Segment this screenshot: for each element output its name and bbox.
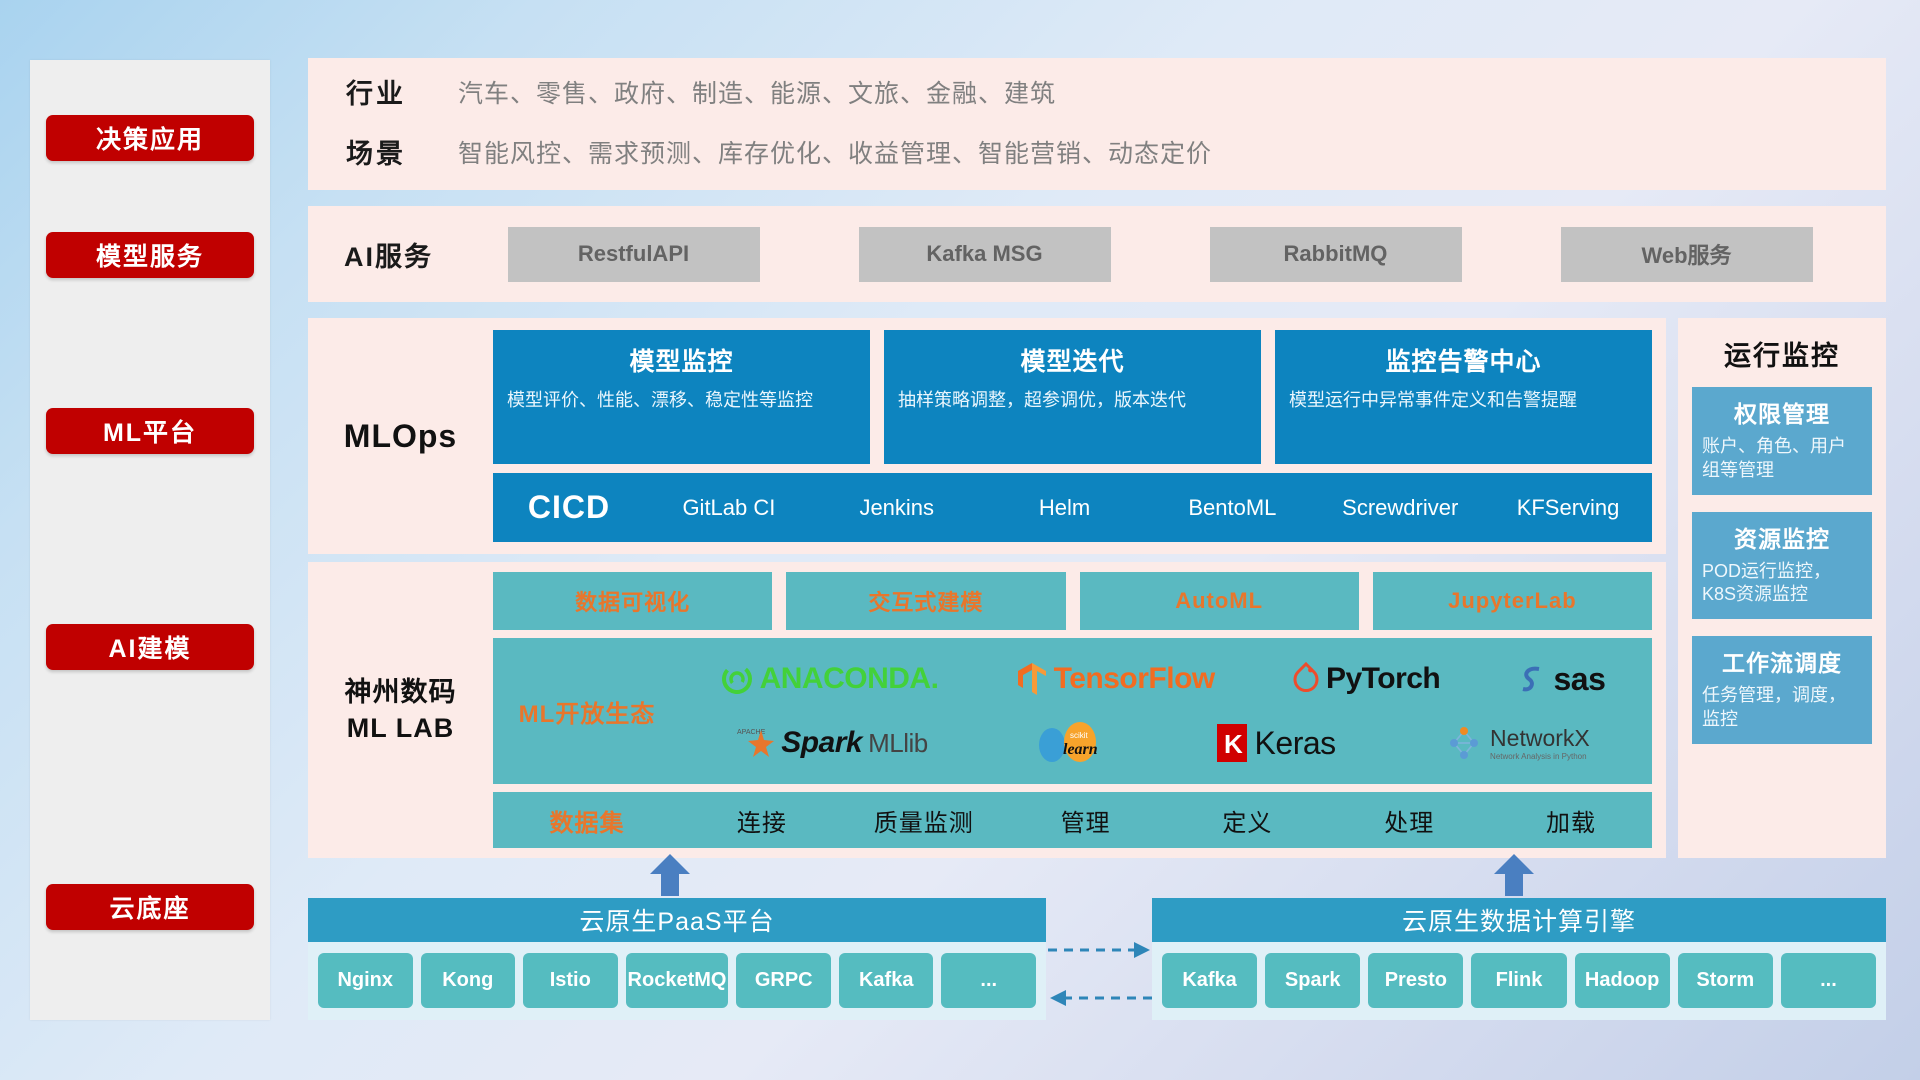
runtime-monitoring-panel: 运行监控 权限管理 账户、角色、用户组等管理 资源监控 POD运行监控，K8S资… [1678, 318, 1886, 858]
card-desc: POD运行监控，K8S资源监控 [1702, 560, 1862, 608]
spark-text: Spark [781, 726, 862, 760]
runtime-monitoring-title: 运行监控 [1692, 334, 1872, 373]
ml-lab-label-line1: 神州数码 [345, 674, 457, 710]
industry-labels: 行业 场景 [308, 64, 458, 184]
mlops-card-model-monitor[interactable]: 模型监控 模型评价、性能、漂移、稳定性等监控 [493, 330, 870, 464]
ai-service-panel: AI服务 RestfulAPI Kafka MSG RabbitMQ Web服务 [308, 206, 1886, 302]
cicd-item-screwdriver[interactable]: Screwdriver [1316, 496, 1484, 519]
card-title: 监控告警中心 [1289, 342, 1638, 378]
compute-engine-items: Kafka Spark Presto Flink Hadoop Storm ..… [1152, 942, 1886, 1019]
engine-chip-kafka[interactable]: Kafka [1162, 953, 1257, 1008]
dataset-item-connect[interactable]: 连接 [681, 803, 843, 838]
scenario-label: 场景 [346, 124, 458, 184]
engine-chip-hadoop[interactable]: Hadoop [1575, 953, 1670, 1008]
anaconda-text: ANACONDA. [760, 662, 939, 696]
ecosystem-logo-row-1: ANACONDA. TensorFlow PyTorch sas [681, 648, 1644, 710]
engine-chip-presto[interactable]: Presto [1368, 953, 1463, 1008]
ml-lab-tools: 数据可视化 交互式建模 AutoML JupyterLab [493, 572, 1652, 630]
svg-text:learn: learn [1063, 741, 1098, 758]
pytorch-logo: PyTorch [1292, 662, 1440, 696]
industry-value: 汽车、零售、政府、制造、能源、文旅、金融、建筑 [458, 64, 1886, 124]
spark-icon: APACHE [735, 724, 775, 762]
ai-service-chip-kafka-msg[interactable]: Kafka MSG [859, 227, 1111, 282]
card-title: 权限管理 [1702, 395, 1862, 429]
cicd-item-jenkins[interactable]: Jenkins [813, 496, 981, 519]
paas-items: Nginx Kong Istio RocketMQ GRPC Kafka ... [308, 942, 1046, 1019]
card-desc: 账户、角色、用户组等管理 [1702, 435, 1862, 483]
cicd-item-helm[interactable]: Helm [981, 496, 1149, 519]
mllib-text: MLlib [868, 728, 928, 759]
dataset-items: 连接 质量监测 管理 定义 处理 加载 [681, 803, 1652, 838]
dataset-item-manage[interactable]: 管理 [1005, 803, 1167, 838]
networkx-subtext: Network Analysis in Python [1490, 752, 1590, 761]
card-title: 模型监控 [507, 342, 856, 378]
svg-text:K: K [1224, 729, 1243, 759]
dataset-title: 数据集 [493, 803, 681, 838]
pytorch-icon [1292, 662, 1320, 696]
svg-text:scikit: scikit [1070, 731, 1089, 740]
cicd-item-gitlab-ci[interactable]: GitLab CI [645, 496, 813, 519]
paas-chip-istio[interactable]: Istio [523, 953, 618, 1008]
scikit-learn-icon: scikitlearn [1036, 721, 1106, 765]
rail-item-model-service[interactable]: 模型服务 [46, 232, 254, 278]
compute-engine-title: 云原生数据计算引擎 [1152, 898, 1886, 942]
keras-icon: K [1215, 722, 1249, 764]
arrow-up-icon [648, 852, 692, 896]
card-desc: 抽样策略调整，超参调优，版本迭代 [898, 388, 1247, 413]
card-desc: 模型运行中异常事件定义和告警提醒 [1289, 388, 1638, 413]
ai-service-items: RestfulAPI Kafka MSG RabbitMQ Web服务 [458, 227, 1886, 282]
mlops-panel: MLOps 模型监控 模型评价、性能、漂移、稳定性等监控 模型迭代 抽样策略调整… [308, 318, 1666, 554]
ai-service-label: AI服务 [308, 235, 458, 274]
rail-item-decision-app[interactable]: 决策应用 [46, 115, 254, 161]
scenario-value: 智能风控、需求预测、库存优化、收益管理、智能营销、动态定价 [458, 124, 1886, 184]
ml-open-ecosystem: ML开放生态 ANACONDA. TensorFlow [493, 638, 1652, 784]
tensorflow-text: TensorFlow [1054, 662, 1215, 696]
cicd-title: CICD [493, 489, 645, 526]
bidirectional-link-arrows [1046, 938, 1154, 1012]
card-title: 工作流调度 [1702, 644, 1862, 678]
keras-text: Keras [1255, 725, 1336, 762]
paas-title: 云原生PaaS平台 [308, 898, 1046, 942]
paas-chip-nginx[interactable]: Nginx [318, 953, 413, 1008]
networkx-icon [1444, 723, 1484, 763]
rp-card-permission-management[interactable]: 权限管理 账户、角色、用户组等管理 [1692, 387, 1872, 495]
card-desc: 任务管理，调度，监控 [1702, 684, 1862, 732]
cloud-native-compute-engine-block: 云原生数据计算引擎 Kafka Spark Presto Flink Hadoo… [1152, 898, 1886, 1020]
dataset-item-quality-monitor[interactable]: 质量监测 [843, 803, 1005, 838]
mlops-card-alert-center[interactable]: 监控告警中心 模型运行中异常事件定义和告警提醒 [1275, 330, 1652, 464]
ml-lab-label-line2: ML LAB [347, 710, 455, 746]
cloud-native-paas-block: 云原生PaaS平台 Nginx Kong Istio RocketMQ GRPC… [308, 898, 1046, 1020]
engine-chip-more[interactable]: ... [1781, 953, 1876, 1008]
sas-icon [1517, 663, 1547, 695]
pytorch-text: PyTorch [1326, 662, 1440, 696]
lab-tool-automl[interactable]: AutoML [1080, 572, 1359, 630]
lab-tool-interactive-modeling[interactable]: 交互式建模 [786, 572, 1065, 630]
anaconda-icon [720, 662, 754, 696]
keras-logo: K Keras [1215, 722, 1336, 764]
networkx-text: NetworkX [1490, 725, 1590, 752]
dataset-item-load[interactable]: 加载 [1490, 803, 1652, 838]
dataset-item-process[interactable]: 处理 [1328, 803, 1490, 838]
paas-chip-more[interactable]: ... [941, 953, 1036, 1008]
mlops-body: 模型监控 模型评价、性能、漂移、稳定性等监控 模型迭代 抽样策略调整，超参调优，… [493, 318, 1666, 554]
spark-mllib-logo: APACHE Spark MLlib [735, 724, 928, 762]
ecosystem-logo-row-2: APACHE Spark MLlib scikitlearn K Keras [681, 712, 1644, 774]
card-title: 模型迭代 [898, 342, 1247, 378]
ai-service-chip-restfulapi[interactable]: RestfulAPI [508, 227, 760, 282]
tensorflow-icon [1016, 661, 1048, 697]
rp-card-workflow-scheduling[interactable]: 工作流调度 任务管理，调度，监控 [1692, 636, 1872, 744]
ai-service-chip-web[interactable]: Web服务 [1561, 227, 1813, 282]
cicd-bar: CICD GitLab CI Jenkins Helm BentoML Scre… [493, 473, 1652, 542]
card-title: 资源监控 [1702, 520, 1862, 554]
industry-label: 行业 [346, 64, 458, 124]
dashed-arrows-icon [1046, 938, 1154, 1012]
rail-item-cloud-base[interactable]: 云底座 [46, 884, 254, 930]
scikit-learn-logo: scikitlearn [1036, 721, 1106, 765]
lab-tool-data-visualization[interactable]: 数据可视化 [493, 572, 772, 630]
ecosystem-label: ML开放生态 [493, 694, 681, 729]
engine-chip-spark[interactable]: Spark [1265, 953, 1360, 1008]
engine-chip-storm[interactable]: Storm [1678, 953, 1773, 1008]
dataset-item-define[interactable]: 定义 [1166, 803, 1328, 838]
up-arrow-right [1492, 852, 1536, 896]
sas-logo: sas [1517, 661, 1605, 698]
industry-scenario-panel: 行业 场景 汽车、零售、政府、制造、能源、文旅、金融、建筑 智能风控、需求预测、… [308, 58, 1886, 190]
cicd-item-kfserving[interactable]: KFServing [1484, 496, 1652, 519]
card-desc: 模型评价、性能、漂移、稳定性等监控 [507, 388, 856, 413]
up-arrow-left [648, 852, 692, 896]
mlops-card-list: 模型监控 模型评价、性能、漂移、稳定性等监控 模型迭代 抽样策略调整，超参调优，… [493, 330, 1652, 464]
rail-item-ml-platform[interactable]: ML平台 [46, 408, 254, 454]
lab-tool-jupyterlab[interactable]: JupyterLab [1373, 572, 1652, 630]
paas-chip-rocketmq[interactable]: RocketMQ [626, 953, 729, 1008]
rail-item-ai-modeling[interactable]: AI建模 [46, 624, 254, 670]
ai-service-chip-rabbitmq[interactable]: RabbitMQ [1210, 227, 1462, 282]
sas-text: sas [1553, 661, 1605, 698]
cicd-item-bentoml[interactable]: BentoML [1148, 496, 1316, 519]
cicd-items: GitLab CI Jenkins Helm BentoML Screwdriv… [645, 496, 1652, 519]
paas-chip-grpc[interactable]: GRPC [736, 953, 831, 1008]
ecosystem-logos: ANACONDA. TensorFlow PyTorch sas [681, 648, 1652, 774]
dataset-bar: 数据集 连接 质量监测 管理 定义 处理 加载 [493, 792, 1652, 848]
ml-lab-body: 数据可视化 交互式建模 AutoML JupyterLab ML开放生态 ANA… [493, 562, 1666, 858]
ml-lab-panel: 神州数码 ML LAB 数据可视化 交互式建模 AutoML JupyterLa… [308, 562, 1666, 858]
engine-chip-flink[interactable]: Flink [1471, 953, 1566, 1008]
tensorflow-logo: TensorFlow [1016, 661, 1215, 697]
anaconda-logo: ANACONDA. [720, 662, 939, 696]
diagram-canvas: 决策应用 模型服务 ML平台 AI建模 云底座 行业 场景 汽车、零售、政府、制… [0, 0, 1920, 1080]
arrow-up-icon [1492, 852, 1536, 896]
ml-lab-label: 神州数码 ML LAB [308, 562, 493, 858]
mlops-card-model-iteration[interactable]: 模型迭代 抽样策略调整，超参调优，版本迭代 [884, 330, 1261, 464]
rp-card-resource-monitoring[interactable]: 资源监控 POD运行监控，K8S资源监控 [1692, 512, 1872, 620]
networkx-logo: NetworkX Network Analysis in Python [1444, 723, 1590, 763]
left-rail: 决策应用 模型服务 ML平台 AI建模 云底座 [30, 60, 270, 1020]
mlops-label: MLOps [308, 318, 493, 554]
paas-chip-kong[interactable]: Kong [421, 953, 516, 1008]
industry-values: 汽车、零售、政府、制造、能源、文旅、金融、建筑 智能风控、需求预测、库存优化、收… [458, 64, 1886, 184]
paas-chip-kafka[interactable]: Kafka [839, 953, 934, 1008]
